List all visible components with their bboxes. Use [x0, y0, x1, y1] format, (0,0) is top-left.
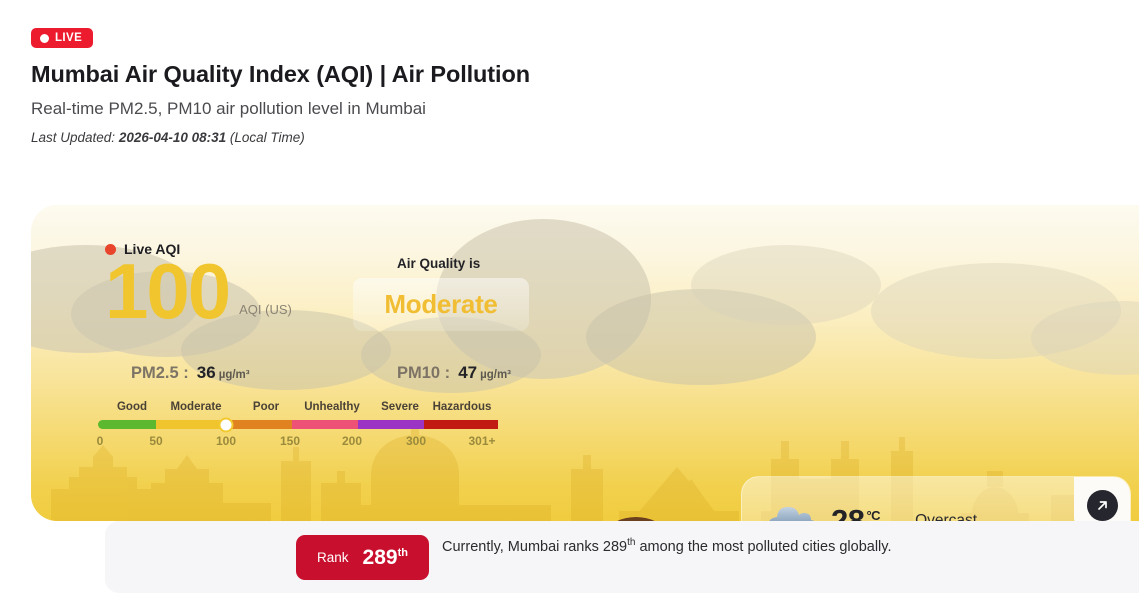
aqi-category-label: Unhealthy	[304, 401, 360, 413]
aqi-scale-knob[interactable]	[219, 417, 234, 432]
aqi-category-label: Hazardous	[433, 401, 492, 413]
aqi-scale-tick: 100	[216, 434, 236, 448]
aqi-category-label: Severe	[381, 401, 419, 413]
page-title: Mumbai Air Quality Index (AQI) | Air Pol…	[31, 61, 1139, 88]
aqi-category-label: Poor	[253, 401, 279, 413]
rank-value: 289th	[363, 546, 408, 570]
last-updated-suffix: (Local Time)	[226, 130, 305, 145]
weather-expand-notch	[1074, 477, 1130, 521]
pm25-value: 36	[197, 363, 216, 382]
page-subtitle: Real-time PM2.5, PM10 air pollution leve…	[31, 99, 1139, 119]
weather-condition: Overcast	[915, 512, 977, 521]
pm25-label: PM2.5 :	[131, 364, 189, 382]
rank-description-part2: among the most polluted cities globally.	[635, 539, 891, 555]
aqi-scale-segment	[98, 420, 156, 429]
last-updated: Last Updated: 2026-04-10 08:31 (Local Ti…	[31, 130, 1139, 145]
aqi-category-label: Good	[117, 401, 147, 413]
rank-label: Rank	[317, 550, 349, 565]
air-quality-level-text: Moderate	[384, 289, 497, 320]
aqi-hero-banner: Live AQI 100 AQI (US) Air Quality is Mod…	[31, 205, 1139, 521]
aqi-scale-tick: 300	[406, 434, 426, 448]
live-badge-label: LIVE	[55, 32, 82, 44]
sad-boy-illustration	[579, 510, 694, 521]
aqi-scale-bar[interactable]	[98, 420, 498, 429]
aqi-scale-tick: 150	[280, 434, 300, 448]
aqi-unit-label: AQI (US)	[239, 302, 292, 317]
rank-badge: Rank 289th	[296, 535, 429, 580]
pm10-readout: PM10 :47µg/m³	[397, 363, 511, 383]
aqi-scale-segment	[292, 420, 358, 429]
aqi-value-row: 100 AQI (US)	[105, 253, 292, 329]
aqi-scale-segment	[232, 420, 292, 429]
aqi-value: 100	[105, 253, 229, 329]
live-badge: LIVE	[31, 28, 93, 48]
weather-card-main: 28°C Overcast	[742, 477, 1130, 521]
weather-card[interactable]: 28°C Overcast	[741, 476, 1131, 521]
aqi-scale-segment	[358, 420, 424, 429]
page-header: LIVE Mumbai Air Quality Index (AQI) | Ai…	[0, 0, 1139, 145]
last-updated-prefix: Last Updated:	[31, 130, 119, 145]
aqi-category-label: Moderate	[170, 401, 221, 413]
aqi-scale: GoodModeratePoorUnhealthySevereHazardous…	[98, 401, 498, 452]
cloud-icon	[766, 503, 814, 521]
rank-description-part1: Currently, Mumbai ranks 289	[442, 539, 627, 555]
aqi-readout: Live AQI 100 AQI (US)	[105, 241, 292, 329]
rank-number: 289	[363, 546, 398, 569]
temperature-value: 28	[831, 503, 864, 521]
aqi-page: LIVE Mumbai Air Quality Index (AQI) | Ai…	[0, 0, 1139, 608]
weather-expand-button[interactable]	[1087, 490, 1118, 521]
rank-panel: Rank 289th Currently, Mumbai ranks 289th…	[105, 521, 1139, 593]
pm25-unit: µg/m³	[219, 369, 250, 381]
rank-ordinal-suffix: th	[398, 547, 408, 559]
air-quality-prefix-label: Air Quality is	[397, 256, 480, 271]
arrow-up-right-icon	[1095, 498, 1110, 513]
temperature-unit: °C	[866, 508, 880, 521]
aqi-scale-category-labels: GoodModeratePoorUnhealthySevereHazardous	[98, 401, 498, 418]
aqi-scale-tick: 0	[97, 434, 104, 448]
aqi-scale-tick-labels: 050100150200300301+	[98, 434, 498, 452]
pm25-readout: PM2.5 :36µg/m³	[131, 363, 250, 383]
rank-description: Currently, Mumbai ranks 289th among the …	[442, 536, 902, 558]
aqi-scale-tick: 301+	[468, 434, 495, 448]
pm10-unit: µg/m³	[480, 369, 511, 381]
pm10-value: 47	[458, 363, 477, 382]
air-quality-level-badge: Moderate	[353, 278, 529, 331]
aqi-scale-tick: 200	[342, 434, 362, 448]
aqi-scale-tick: 50	[149, 434, 162, 448]
live-dot-icon	[40, 34, 49, 43]
last-updated-value: 2026-04-10 08:31	[119, 130, 226, 145]
aqi-scale-segment	[424, 420, 498, 429]
weather-temperature: 28°C	[831, 503, 880, 521]
cloud-shape-icon	[691, 245, 881, 325]
pm10-label: PM10 :	[397, 364, 450, 382]
